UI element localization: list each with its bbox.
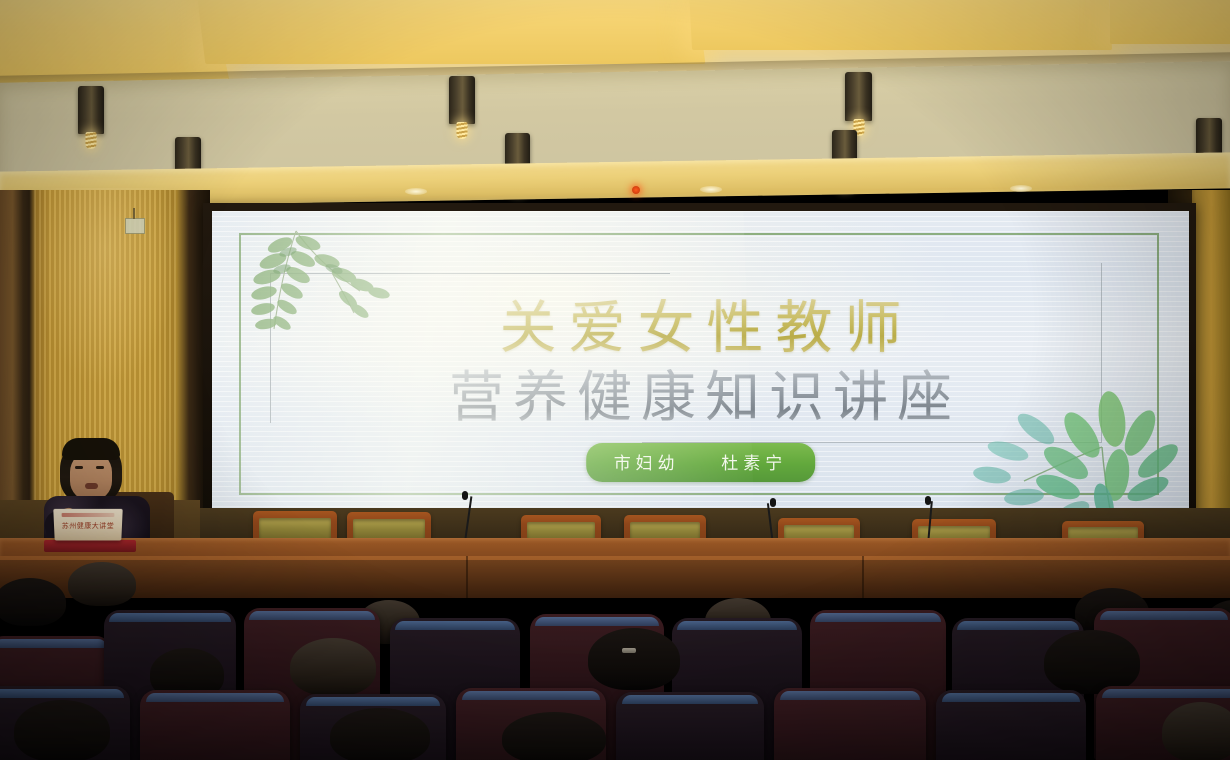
ceiling-coffer-light bbox=[688, 0, 1112, 50]
presenter-badge: 市妇幼 杜素宁 bbox=[586, 443, 816, 482]
pendant-light-icon bbox=[449, 76, 475, 124]
auditorium-seat bbox=[774, 688, 926, 760]
hair-clip-icon bbox=[622, 648, 636, 653]
audience-head bbox=[588, 628, 680, 690]
audience-head bbox=[1162, 702, 1230, 760]
soffit-spotlight bbox=[405, 188, 427, 195]
microphone-icon bbox=[464, 496, 466, 542]
wall-sign bbox=[125, 218, 145, 234]
pendant-light-icon bbox=[845, 72, 872, 121]
nameplate-text: 苏州健康大讲堂 bbox=[54, 521, 122, 531]
audience-head bbox=[290, 638, 376, 696]
leaf-branch-icon bbox=[962, 389, 1189, 510]
pendant-light-icon bbox=[78, 86, 104, 134]
soffit-spotlight bbox=[1010, 185, 1032, 192]
audience-head bbox=[502, 712, 606, 760]
audience-head bbox=[1044, 630, 1140, 694]
slide-title-main: 关爱女性教师 bbox=[212, 299, 1189, 359]
left-wall-glow bbox=[30, 188, 180, 388]
podium-nameplate: 苏州健康大讲堂 bbox=[53, 509, 122, 541]
soffit-spotlight bbox=[700, 186, 722, 193]
laptop-lid bbox=[44, 540, 136, 552]
auditorium-seat bbox=[616, 692, 764, 760]
audience-head bbox=[0, 578, 66, 626]
ceiling-coffer-light bbox=[195, 0, 706, 64]
indicator-light-icon bbox=[632, 186, 640, 194]
audience-head bbox=[14, 700, 110, 760]
projection-screen: 关爱女性教师 营养健康知识讲座 市妇幼 杜素宁 bbox=[212, 211, 1189, 510]
audience-head bbox=[330, 708, 430, 760]
ceiling-coffer-light bbox=[1110, 0, 1230, 44]
audience-head bbox=[68, 562, 136, 606]
auditorium-seat bbox=[936, 690, 1086, 760]
lecture-hall-photo: 关爱女性教师 营养健康知识讲座 市妇幼 杜素宁 bbox=[0, 0, 1230, 760]
auditorium-seat bbox=[140, 690, 290, 760]
